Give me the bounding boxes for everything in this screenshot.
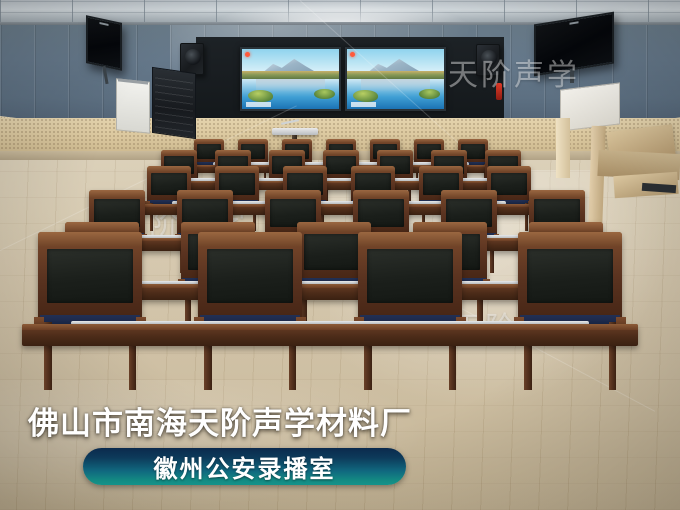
monitor-led — [570, 21, 579, 24]
chair-crest-rail — [282, 139, 312, 143]
chair-crest-rail — [181, 222, 255, 232]
desk-top-edge — [22, 324, 638, 330]
chair-crest-rail — [358, 232, 462, 247]
wall-speaker-left — [180, 43, 204, 75]
project-pill-label: 徽州公安录播室 — [154, 449, 336, 484]
monitor-led — [100, 22, 109, 26]
chair-back-pad — [304, 234, 365, 270]
chair-crest-rail — [419, 166, 463, 172]
chair-crest-rail — [89, 190, 145, 198]
chair-back-pad — [47, 249, 132, 302]
display-foreground-bush — [248, 90, 273, 102]
chair-crest-rail — [529, 222, 603, 232]
chair-crest-rail — [529, 190, 585, 198]
chair-crest-rail — [269, 150, 305, 155]
chair-crest-rail — [265, 190, 321, 198]
project-pill: 徽州公安录播室 — [83, 448, 406, 485]
display-foreground-bush — [353, 90, 378, 102]
chair-crest-rail — [431, 150, 467, 155]
wall-fire-extinguisher — [496, 83, 502, 100]
screenshot-root: 天阶声学 天阶声学 天阶声学 佛山市南海天阶声学材料厂 徽州公安录播室 — [0, 0, 680, 510]
chair-crest-rail — [487, 166, 531, 172]
chair-crest-rail — [161, 150, 197, 155]
chair-crest-rail — [198, 232, 302, 247]
chair-crest-rail — [485, 150, 521, 155]
desk-row — [22, 324, 638, 346]
chair-crest-rail — [177, 190, 233, 198]
chair-crest-rail — [413, 222, 487, 232]
speaker-cone-icon — [481, 50, 497, 66]
front-display-left — [240, 47, 341, 111]
chair-crest-rail — [353, 190, 409, 198]
chair-crest-rail — [147, 166, 191, 172]
display-power-led — [245, 52, 250, 57]
chair — [38, 232, 142, 324]
chair — [198, 232, 302, 324]
chair-crest-rail — [238, 139, 268, 143]
chair-crest-rail — [326, 139, 356, 143]
chair-crest-rail — [518, 232, 622, 247]
chair-crest-rail — [215, 166, 259, 172]
chair-crest-rail — [38, 232, 142, 247]
rack-slot-lines — [155, 73, 193, 132]
chair-back-pad — [207, 249, 292, 302]
chair-crest-rail — [458, 139, 488, 143]
lectern-top — [272, 128, 318, 135]
chair-crest-rail — [194, 139, 224, 143]
whiteboard-cabinet-left — [116, 78, 150, 134]
brand-title: 佛山市南海天阶声学材料厂 — [28, 398, 412, 443]
front-display-right — [345, 47, 446, 111]
display-power-led — [350, 52, 355, 57]
chair-crest-rail — [377, 150, 413, 155]
chair-crest-rail — [441, 190, 497, 198]
display-osd-bar — [351, 102, 376, 106]
chair-crest-rail — [370, 139, 400, 143]
monitor-mount-arm-right — [570, 69, 574, 83]
chair-crest-rail — [65, 222, 139, 232]
chair-back-pad — [367, 249, 452, 302]
display-osd-bar — [246, 102, 271, 106]
chair-crest-rail — [351, 166, 395, 172]
chair — [518, 232, 622, 324]
packaging-debris — [596, 126, 680, 230]
side-monitor-left — [86, 15, 122, 71]
chair-crest-rail — [414, 139, 444, 143]
chair-crest-rail — [215, 150, 251, 155]
chair — [358, 232, 462, 324]
wall-pillar-right — [556, 118, 570, 178]
chair-crest-rail — [323, 150, 359, 155]
wall-speaker-right — [476, 44, 500, 76]
chair-back-pad — [527, 249, 612, 302]
chair-crest-rail — [297, 222, 371, 232]
speaker-cone-icon — [185, 49, 201, 65]
ceiling-light-glow — [210, 0, 470, 22]
chair-crest-rail — [283, 166, 327, 172]
desk-top-edge — [155, 181, 527, 183]
desk-row — [155, 181, 527, 190]
